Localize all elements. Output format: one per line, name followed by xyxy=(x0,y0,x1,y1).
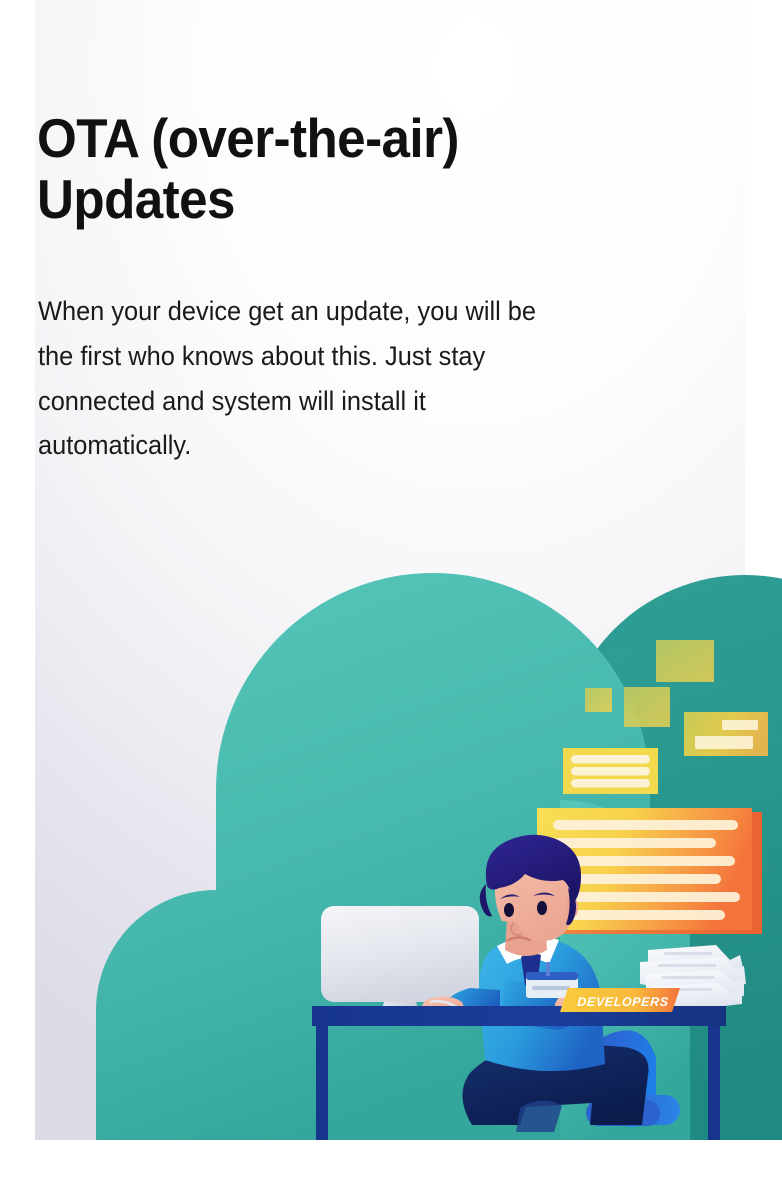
page-title: OTA (over-the-air) Updates xyxy=(37,108,614,229)
page-description: When your device get an update, you will… xyxy=(38,289,546,468)
nameplate-text: DEVELOPERS xyxy=(575,995,672,1009)
onboarding-slide: OTA (over-the-air) Updates When your dev… xyxy=(0,0,782,1200)
